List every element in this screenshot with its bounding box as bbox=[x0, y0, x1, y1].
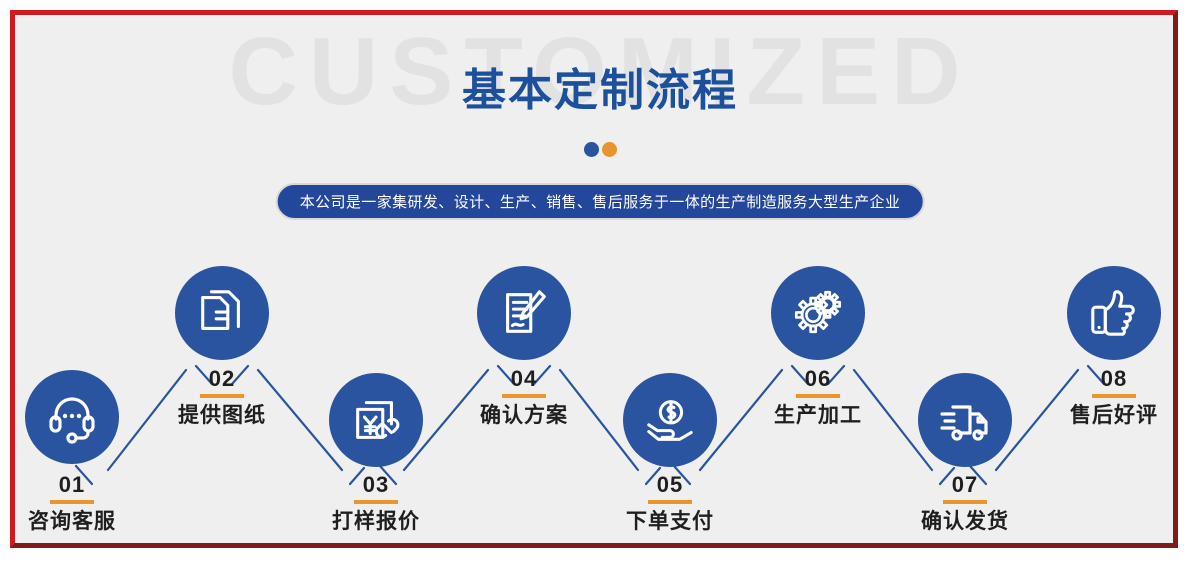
step-number-underline-02 bbox=[200, 394, 244, 398]
step-circle-05[interactable] bbox=[623, 373, 717, 467]
step-number-05: 05 bbox=[590, 474, 750, 496]
customization-process-infographic: CUSTOMIZED 基本定制流程 本公司是一家集研发、设计、生产、销售、售后服… bbox=[0, 0, 1200, 567]
step-circle-02[interactable] bbox=[175, 266, 269, 360]
step-number-02: 02 bbox=[142, 368, 302, 390]
step-label-06: 06 生产加工 bbox=[738, 368, 898, 428]
content-stage: CUSTOMIZED 基本定制流程 本公司是一家集研发、设计、生产、销售、售后服… bbox=[0, 0, 1200, 567]
step-number-underline-07 bbox=[943, 500, 987, 504]
step-name-08: 售后好评 bbox=[1034, 403, 1194, 428]
step-name-02: 提供图纸 bbox=[142, 403, 302, 428]
thumbs-up-icon bbox=[1087, 286, 1141, 340]
step-label-01: 01 咨询客服 bbox=[0, 474, 152, 534]
dot-orange bbox=[602, 142, 617, 157]
title-dots bbox=[0, 142, 1200, 157]
step-name-01: 咨询客服 bbox=[0, 509, 152, 534]
step-number-07: 07 bbox=[885, 474, 1045, 496]
step-label-04: 04 确认方案 bbox=[444, 368, 604, 428]
step-number-03: 03 bbox=[296, 474, 456, 496]
step-number-04: 04 bbox=[444, 368, 604, 390]
step-label-07: 07 确认发货 bbox=[885, 474, 1045, 534]
step-label-02: 02 提供图纸 bbox=[142, 368, 302, 428]
step-circle-07[interactable] bbox=[918, 373, 1012, 467]
step-circle-04[interactable] bbox=[477, 266, 571, 360]
step-circle-03[interactable] bbox=[329, 373, 423, 467]
document-pen-icon bbox=[497, 286, 551, 340]
step-label-03: 03 打样报价 bbox=[296, 474, 456, 534]
step-number-underline-01 bbox=[50, 500, 94, 504]
step-circle-01[interactable] bbox=[25, 370, 119, 464]
documents-icon bbox=[195, 286, 249, 340]
step-number-06: 06 bbox=[738, 368, 898, 390]
hand-coin-icon bbox=[643, 393, 697, 447]
step-number-01: 01 bbox=[0, 474, 152, 496]
dot-blue bbox=[584, 142, 599, 157]
company-tagline-bar: 本公司是一家集研发、设计、生产、销售、售后服务于一体的生产制造服务大型生产企业 bbox=[276, 183, 925, 220]
delivery-truck-icon bbox=[937, 392, 993, 448]
step-label-08: 08 售后好评 bbox=[1034, 368, 1194, 428]
step-label-05: 05 下单支付 bbox=[590, 474, 750, 534]
company-tagline-text: 本公司是一家集研发、设计、生产、销售、售后服务于一体的生产制造服务大型生产企业 bbox=[300, 191, 901, 212]
gears-icon bbox=[791, 286, 845, 340]
step-name-05: 下单支付 bbox=[590, 509, 750, 534]
step-circle-08[interactable] bbox=[1067, 266, 1161, 360]
step-number-underline-04 bbox=[502, 394, 546, 398]
step-number-08: 08 bbox=[1034, 368, 1194, 390]
step-number-underline-08 bbox=[1092, 394, 1136, 398]
step-number-underline-06 bbox=[796, 394, 840, 398]
step-name-06: 生产加工 bbox=[738, 403, 898, 428]
headset-icon bbox=[44, 389, 100, 445]
step-circle-06[interactable] bbox=[771, 266, 865, 360]
yuan-quote-icon bbox=[349, 393, 403, 447]
step-number-underline-05 bbox=[648, 500, 692, 504]
step-number-underline-03 bbox=[354, 500, 398, 504]
step-name-04: 确认方案 bbox=[444, 403, 604, 428]
page-title: 基本定制流程 bbox=[0, 66, 1200, 117]
step-name-03: 打样报价 bbox=[296, 509, 456, 534]
step-name-07: 确认发货 bbox=[885, 509, 1045, 534]
